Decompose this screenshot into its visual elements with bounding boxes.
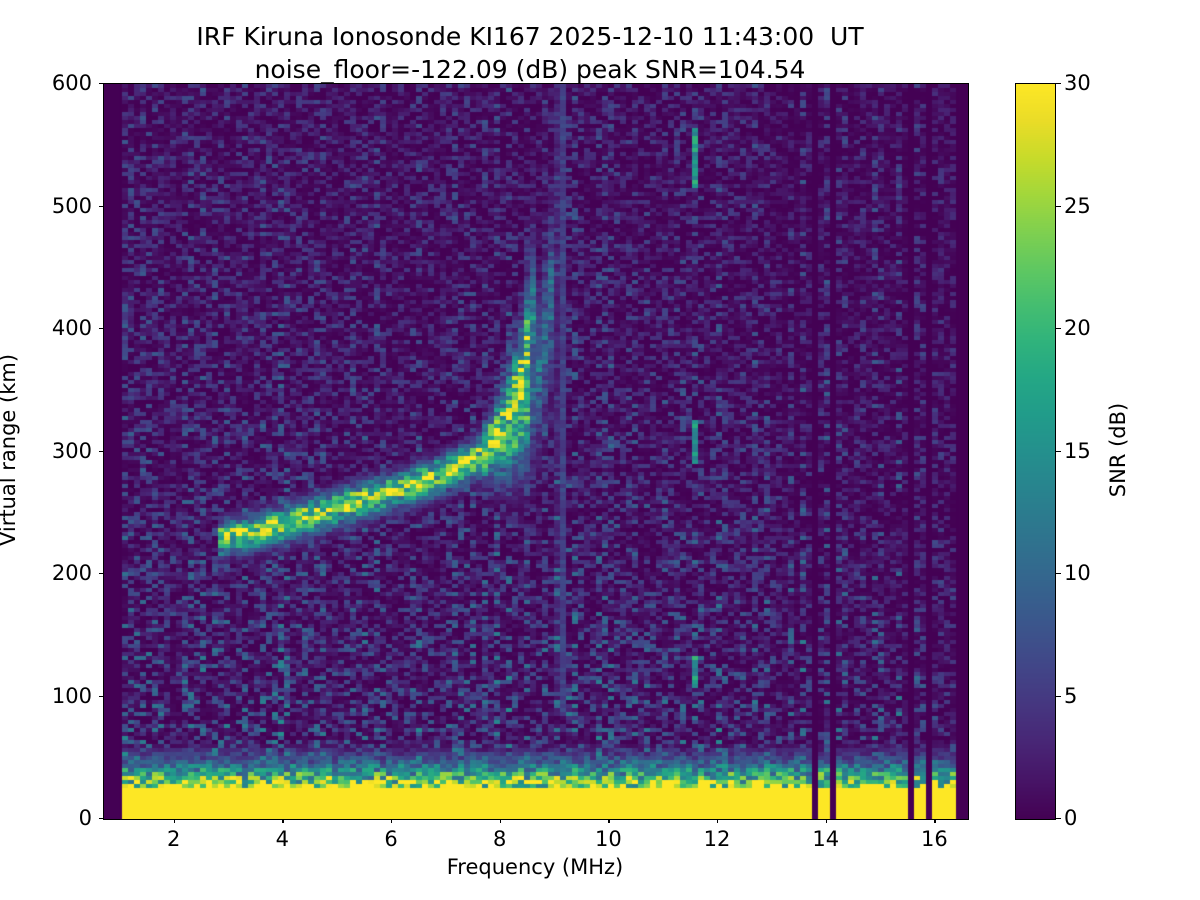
y-tick-mark	[99, 206, 103, 207]
x-tick-label: 14	[812, 827, 839, 851]
colorbar-gradient	[1016, 84, 1055, 819]
ionogram-axes	[103, 83, 969, 820]
x-tick-mark	[934, 819, 935, 823]
x-tick-mark	[391, 819, 392, 823]
colorbar-tick-mark	[1056, 696, 1061, 697]
y-tick-label: 200	[0, 561, 92, 585]
colorbar-tick-label: 10	[1064, 561, 1091, 585]
y-tick-label: 0	[0, 806, 92, 830]
figure-title: IRF Kiruna Ionosonde KI167 2025-12-10 11…	[0, 20, 1060, 86]
x-tick-mark	[500, 819, 501, 823]
x-tick-mark	[282, 819, 283, 823]
y-tick-mark	[99, 451, 103, 452]
y-tick-mark	[99, 328, 103, 329]
x-tick-label: 2	[167, 827, 180, 851]
x-tick-label: 4	[276, 827, 289, 851]
colorbar-tick-label: 15	[1064, 439, 1091, 463]
colorbar-tick-label: 20	[1064, 316, 1091, 340]
colorbar-title: SNR (dB)	[1106, 403, 1130, 497]
y-axis-title: Virtual range (km)	[0, 354, 20, 546]
colorbar-tick-label: 30	[1064, 71, 1091, 95]
colorbar-tick-mark	[1056, 206, 1061, 207]
x-tick-mark	[174, 819, 175, 823]
y-tick-label: 100	[0, 684, 92, 708]
ionogram-heatmap	[104, 84, 968, 819]
ionogram-figure: IRF Kiruna Ionosonde KI167 2025-12-10 11…	[0, 0, 1200, 900]
y-tick-label: 500	[0, 194, 92, 218]
y-tick-mark	[99, 696, 103, 697]
colorbar	[1015, 83, 1056, 820]
x-tick-mark	[608, 819, 609, 823]
x-tick-label: 6	[384, 827, 397, 851]
colorbar-tick-mark	[1056, 451, 1061, 452]
y-tick-mark	[99, 83, 103, 84]
x-tick-label: 12	[704, 827, 731, 851]
y-tick-label: 400	[0, 316, 92, 340]
x-tick-label: 10	[595, 827, 622, 851]
title-line-2: noise_floor=-122.09 (dB) peak SNR=104.54	[0, 53, 1060, 86]
y-tick-mark	[99, 818, 103, 819]
colorbar-tick-mark	[1056, 328, 1061, 329]
y-tick-label: 600	[0, 71, 92, 95]
x-tick-label: 8	[493, 827, 506, 851]
colorbar-tick-mark	[1056, 83, 1061, 84]
x-tick-mark	[826, 819, 827, 823]
colorbar-tick-label: 0	[1064, 806, 1077, 830]
title-line-1: IRF Kiruna Ionosonde KI167 2025-12-10 11…	[0, 20, 1060, 53]
x-tick-mark	[717, 819, 718, 823]
colorbar-tick-mark	[1056, 818, 1061, 819]
colorbar-tick-mark	[1056, 573, 1061, 574]
colorbar-tick-label: 25	[1064, 194, 1091, 218]
colorbar-tick-label: 5	[1064, 684, 1077, 708]
x-tick-label: 16	[921, 827, 948, 851]
y-tick-mark	[99, 573, 103, 574]
x-axis-title: Frequency (MHz)	[447, 855, 623, 879]
